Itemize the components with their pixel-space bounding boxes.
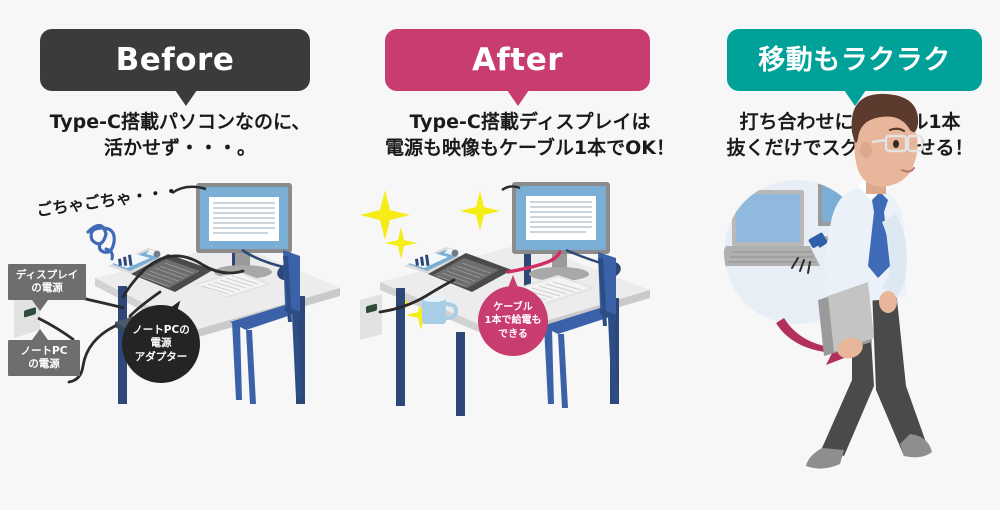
laptop-chart xyxy=(415,255,430,266)
panel-move: 移動もラクラク 打ち合わせにケーブル1本 抜くだけでスグ持ち出せる！ xyxy=(700,0,1000,510)
sparkle-1 xyxy=(360,190,410,240)
laptop-pie-chart xyxy=(452,250,459,257)
laptop-chart xyxy=(118,255,133,266)
chair-leg-fl xyxy=(544,326,554,404)
callout-notepc-power-tail xyxy=(32,329,48,340)
illustration-after xyxy=(360,0,700,510)
callout-notepc-power-label: ノートPC の電源 xyxy=(21,345,68,371)
person-shoe-back xyxy=(806,448,844,469)
callout-cable-label: ケーブル 1本で給電も できる xyxy=(485,301,542,342)
infographic-canvas: Before Type-C搭載パソコンなのに、 活かせず・・・。 xyxy=(0,0,1000,510)
desk-leg-center xyxy=(456,332,465,416)
laptop-pie-chart xyxy=(154,251,161,258)
callout-display-power-tail xyxy=(32,300,48,311)
callout-display-power: ディスプレイ の電源 xyxy=(8,264,86,300)
monitor-document-lines xyxy=(213,203,275,233)
sparkle-2 xyxy=(460,191,500,231)
squiggle-doodle xyxy=(88,225,114,252)
person-hand-right xyxy=(879,291,897,313)
person-eye xyxy=(893,140,899,148)
callout-adapter-label: ノートPCの 電源 アダプター xyxy=(132,324,189,365)
callout-cable-pointer xyxy=(506,275,520,293)
illustration-move xyxy=(700,0,1000,510)
chair-leg-bl xyxy=(558,334,568,408)
inset-laptop-base xyxy=(716,246,820,266)
callout-notepc-power: ノートPC の電源 xyxy=(8,340,80,376)
person-leg-front xyxy=(872,288,928,456)
wall-outlet-plate xyxy=(360,294,382,340)
panel-after: After Type-C搭載ディスプレイは 電源も映像もケーブル1本でOK！ xyxy=(360,0,700,510)
illustration-before xyxy=(0,0,360,510)
chair-leg-bl xyxy=(246,330,256,404)
person-ear xyxy=(860,142,872,158)
callout-notepc-ac-adapter: ノートPCの 電源 アダプター xyxy=(122,305,200,383)
sparkle-3 xyxy=(385,227,417,259)
inset-laptop-screen xyxy=(736,194,800,242)
callout-single-cable-power: ケーブル 1本で給電も できる xyxy=(478,286,548,356)
chair-leg-fl xyxy=(232,322,242,400)
squiggle-tail xyxy=(106,249,112,259)
monitor-document-lines xyxy=(530,202,592,232)
panel-before: Before Type-C搭載パソコンなのに、 活かせず・・・。 xyxy=(0,0,360,510)
callout-display-power-label: ディスプレイ の電源 xyxy=(16,269,78,295)
